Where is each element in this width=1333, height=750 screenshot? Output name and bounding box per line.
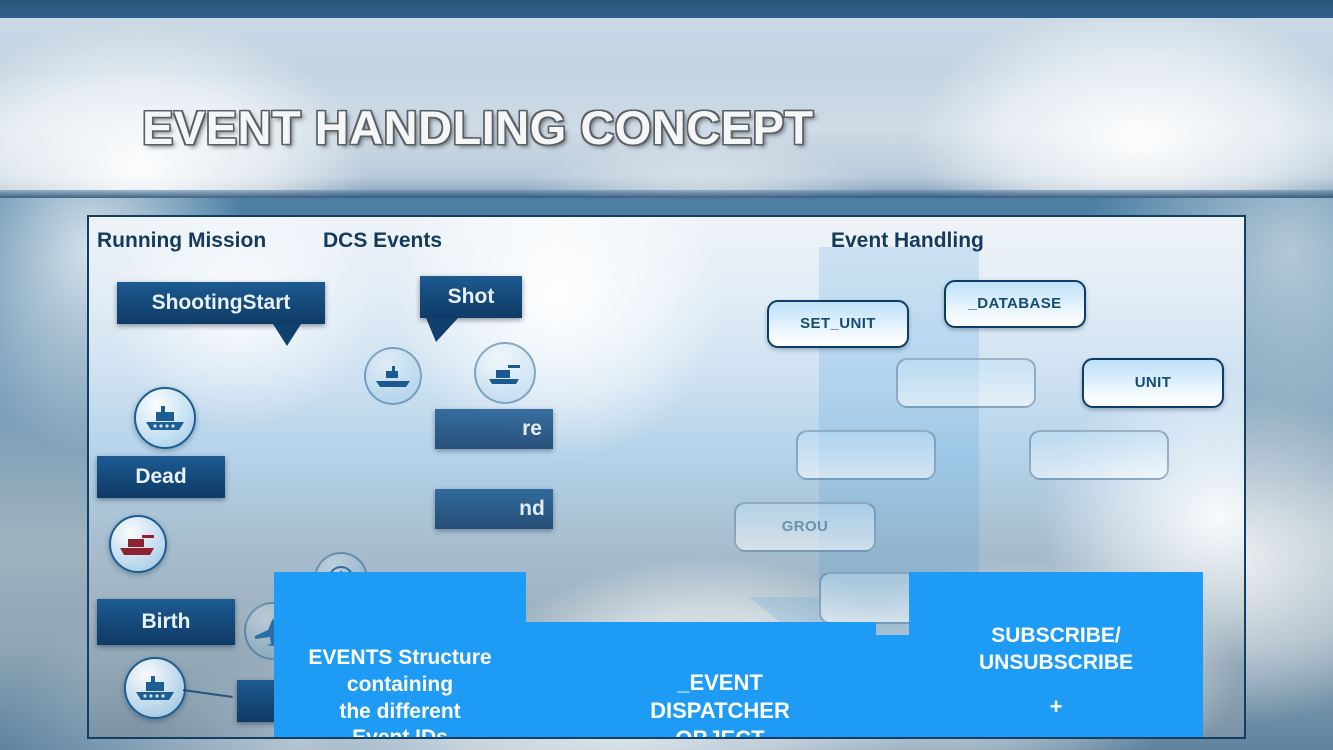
callout-tail-icon xyxy=(426,318,458,342)
overlay-line: _EVENT xyxy=(677,669,763,697)
title-banner: EVENT HANDLING CONCEPT xyxy=(0,18,1333,198)
bubble-ship-dead[interactable] xyxy=(134,387,196,449)
bubble-tank-red[interactable] xyxy=(109,515,167,573)
diagram-panel: Running Mission DCS Events Event Handlin… xyxy=(87,215,1246,739)
event-tag-shootingstart[interactable]: ShootingStart xyxy=(117,282,325,324)
class-button-label: GROU xyxy=(782,518,829,535)
event-tag-shot[interactable]: Shot xyxy=(420,276,522,318)
class-button-database[interactable]: _DATABASE xyxy=(944,280,1086,328)
class-button-label: _DATABASE xyxy=(968,295,1061,312)
overlay-line: Event IDs xyxy=(352,725,448,739)
overlay-line: SUBSCRIBE/ xyxy=(991,623,1121,650)
event-tag-partial-land[interactable]: nd xyxy=(435,489,553,529)
event-tag-label: nd xyxy=(519,497,545,521)
event-tag-label: re xyxy=(522,417,542,441)
overlay-event-handling-methods: SUBSCRIBE/ UNSUBSCRIBE + EVENT HANDLING … xyxy=(909,572,1203,739)
bubble-ship-birth[interactable] xyxy=(124,657,186,719)
overlay-line: EVENT HANDLING xyxy=(963,737,1150,739)
event-tag-birth[interactable]: Birth xyxy=(97,599,235,645)
event-tag-label: Dead xyxy=(135,465,186,489)
class-button-set-unit[interactable]: SET_UNIT xyxy=(767,300,909,348)
overlay-plus-sign: + xyxy=(1050,693,1063,721)
top-sky-band xyxy=(0,0,1333,18)
class-button-hidden-middle-left[interactable] xyxy=(796,430,936,480)
bubble-tank-shot[interactable] xyxy=(474,342,536,404)
overlay-line: DISPATCHER xyxy=(650,697,790,725)
class-button-hidden-upper-left[interactable] xyxy=(896,358,1036,408)
connector-line xyxy=(183,689,233,698)
overlay-event-dispatcher-object: _EVENT DISPATCHER OBJECT xyxy=(564,622,876,739)
bubble-ship-shootingstart[interactable] xyxy=(364,347,422,405)
class-button-label: UNIT xyxy=(1135,374,1172,391)
overlay-line: UNSUBSCRIBE xyxy=(979,650,1133,677)
event-tag-label: Birth xyxy=(142,610,191,634)
callout-tail-icon xyxy=(273,324,301,346)
page-title: EVENT HANDLING CONCEPT xyxy=(142,100,814,155)
event-tag-label: ShootingStart xyxy=(152,291,291,315)
class-button-label: SET_UNIT xyxy=(800,315,876,332)
overlay-events-structure: EVENTS Structure containing the differen… xyxy=(274,572,526,739)
overlay-line: the different xyxy=(339,699,460,726)
banner-bottom-edge xyxy=(0,190,1333,198)
class-button-partial-group[interactable]: GROU xyxy=(734,502,876,552)
overlay-line: OBJECT xyxy=(675,725,764,739)
event-tag-dead[interactable]: Dead xyxy=(97,456,225,498)
caption-dcs-events: DCS Events xyxy=(323,229,442,253)
class-button-hidden-middle-right[interactable] xyxy=(1029,430,1169,480)
caption-running-mission: Running Mission xyxy=(97,229,266,253)
class-button-unit[interactable]: UNIT xyxy=(1082,358,1224,408)
overlay-line: containing xyxy=(347,672,453,699)
event-tag-label: Shot xyxy=(448,285,495,309)
caption-event-handling: Event Handling xyxy=(831,229,984,253)
event-tag-partial-engine-startup[interactable]: re xyxy=(435,409,553,449)
overlay-line: EVENTS Structure xyxy=(308,645,491,672)
